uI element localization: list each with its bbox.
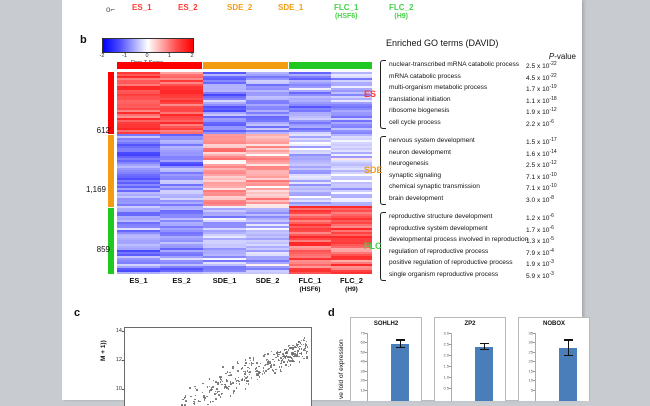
- scatter-point: [224, 384, 226, 386]
- scatter-point: [216, 393, 218, 395]
- scatter-point: [294, 346, 296, 348]
- crop-artifact-mark: o⌐: [106, 5, 115, 14]
- scatter-point: [217, 384, 219, 386]
- go-term-name: regulation of reproductive process: [389, 248, 488, 255]
- go-term-row: synaptic signaling7.1 x 10-10: [386, 171, 580, 183]
- scatter-point: [217, 382, 219, 384]
- top-sample-label-row: o⌐ ES_1ES_2SDE_2SDE_1FLC_1(HSF6)FLC_2(H9…: [62, 0, 582, 30]
- go-term-pvalue: 2.2 x 10-6: [526, 119, 554, 128]
- scatter-point: [256, 362, 258, 364]
- scatter-point: [291, 360, 293, 362]
- go-term-pvalue: 1.7 x 10-19: [526, 84, 557, 93]
- scatter-point: [249, 363, 251, 365]
- scatter-point: [253, 357, 255, 359]
- go-term-name: developmental process involved in reprod…: [389, 236, 528, 243]
- scatter-point: [218, 391, 220, 393]
- scatter-point: [202, 383, 204, 385]
- go-term-row: single organism reproductive process5.9 …: [386, 270, 580, 282]
- go-term-pvalue-exponent: -19: [549, 84, 556, 90]
- go-term-row: neurogenesis2.5 x 10-12: [386, 159, 580, 171]
- go-term-pvalue: 1.7 x 10-6: [526, 225, 554, 234]
- scatter-point: [294, 351, 296, 353]
- bar-chart-axis-line: [451, 333, 452, 401]
- scatter-point: [221, 384, 223, 386]
- scatter-point: [207, 404, 209, 406]
- heatmap-cell: [203, 272, 246, 274]
- scatter-point: [306, 357, 308, 359]
- heatmap-cell: [160, 272, 203, 274]
- scatter-point: [305, 344, 307, 346]
- go-term-name: synaptic signaling: [389, 172, 441, 179]
- go-term-row: mRNA catabolic process4.5 x 10-22: [386, 72, 580, 84]
- scatter-point: [306, 356, 308, 358]
- scatter-points: [125, 328, 311, 406]
- go-term-row: brain development3.0 x 10-8: [386, 194, 580, 206]
- go-terms-block: Enriched GO terms (DAVID) P-value ESnucl…: [380, 38, 580, 281]
- heatmap-x-sublabel: (H9): [327, 285, 376, 294]
- go-term-pvalue: 7.1 x 10-10: [526, 172, 557, 181]
- bar: [391, 344, 409, 401]
- scatter-point: [259, 376, 261, 378]
- scatter-point: [245, 388, 247, 390]
- go-term-name: neuron developmemt: [389, 149, 451, 156]
- scatter-point: [220, 376, 222, 378]
- scatter-point: [293, 356, 295, 358]
- panel-c: c 141210 M + 1)): [62, 305, 322, 400]
- scatter-point: [202, 392, 204, 394]
- scatter-point: [227, 371, 229, 373]
- go-group-label-es: ES: [364, 89, 376, 99]
- scatter-point: [226, 380, 228, 382]
- go-group-sde: SDEnervous system development1.5 x 10-17…: [386, 136, 580, 205]
- scatter-point: [265, 370, 267, 372]
- scatter-point: [278, 354, 280, 356]
- go-term-name: cell cycle process: [389, 119, 441, 126]
- row-count-flc: 859: [76, 245, 110, 254]
- go-term-row: chemical synaptic transmission7.1 x 10-1…: [386, 182, 580, 194]
- scatter-point: [260, 363, 262, 365]
- scatter-point: [221, 393, 223, 395]
- scatter-point: [264, 372, 266, 374]
- bar-chart-title: ZP2: [435, 321, 505, 327]
- scatter-point: [263, 367, 265, 369]
- bar-chart-sohlh2: SOHLH270605040302010: [350, 317, 422, 401]
- scatter-point: [262, 374, 264, 376]
- scatter-point: [230, 383, 232, 385]
- scatter-point: [256, 375, 258, 377]
- color-scale-tick: -2: [100, 53, 105, 59]
- go-term-row: multi-organism metabolic process1.7 x 10…: [386, 83, 580, 95]
- go-term-pvalue-exponent: -22: [549, 61, 556, 67]
- scatter-point: [230, 374, 232, 376]
- scatter-point: [249, 357, 251, 359]
- scatter-point: [217, 391, 219, 393]
- go-term-name: translational initiation: [389, 96, 451, 103]
- scatter-point: [288, 349, 290, 351]
- bar-chart-zp2: ZP23.02.52.01.51.00.5: [434, 317, 506, 401]
- scatter-point: [238, 377, 240, 379]
- bar-chart-nobox: NOBOX3530252015105: [518, 317, 590, 401]
- scatter-point: [189, 387, 191, 389]
- scatter-point: [245, 362, 247, 364]
- go-term-row: cell cycle process2.2 x 10-6: [386, 118, 580, 130]
- color-scale-tick: 0: [145, 53, 148, 59]
- heatmap: [117, 62, 372, 274]
- scatter-point: [277, 356, 279, 358]
- go-term-pvalue-exponent: -5: [549, 236, 553, 242]
- panel-d-letter: d: [328, 307, 335, 319]
- scatter-point: [292, 358, 294, 360]
- heatmap-cell: [331, 272, 372, 274]
- go-term-name: nervous system development: [389, 137, 475, 144]
- scatter-point: [306, 352, 308, 354]
- scatter-point: [307, 346, 309, 348]
- go-term-pvalue: 1.9 x 10-3: [526, 259, 554, 268]
- panel-d: d ve fold of expression SOHLH27060504030…: [324, 305, 582, 400]
- scatter-point: [251, 364, 253, 366]
- scatter-point: [298, 341, 300, 343]
- scatter-point: [253, 359, 255, 361]
- go-term-pvalue-exponent: -10: [549, 172, 556, 178]
- go-term-row: positive regulation of reproductive proc…: [386, 258, 580, 270]
- scatter-point: [229, 372, 231, 374]
- scatter-point: [273, 370, 275, 372]
- go-term-pvalue-exponent: -22: [549, 73, 556, 79]
- bar-chart-y-ticks: 3.02.52.01.51.00.5: [439, 333, 451, 399]
- panel-c-letter: c: [74, 307, 80, 319]
- scatter-point: [241, 379, 243, 381]
- go-term-pvalue: 3.0 x 10-8: [526, 195, 554, 204]
- scatter-point: [285, 364, 287, 366]
- bar: [475, 347, 493, 401]
- scatter-point: [203, 397, 205, 399]
- scatter-point: [244, 379, 246, 381]
- scatter-point: [225, 373, 227, 375]
- scatter-point: [273, 364, 275, 366]
- error-bar-cap: [396, 347, 405, 348]
- go-term-row: developmental process involved in reprod…: [386, 235, 580, 247]
- scatter-point: [297, 350, 299, 352]
- scatter-point: [267, 353, 269, 355]
- bar-chart-title: SOHLH2: [351, 321, 421, 327]
- scatter-point: [228, 386, 230, 388]
- scatter-point: [193, 403, 195, 405]
- top-sample-label-es_1: ES_1: [132, 3, 152, 12]
- heatmap-row-group-bars: [108, 72, 114, 274]
- figure-page: o⌐ ES_1ES_2SDE_2SDE_1FLC_1(HSF6)FLC_2(H9…: [62, 0, 582, 400]
- heatmap-x-labels: ES_1ES_2SDE_1SDE_2FLC_1(HSF6)FLC_2(H9): [117, 276, 372, 300]
- go-term-row: reproductive structure development1.2 x …: [386, 212, 580, 224]
- scatter-point: [281, 366, 283, 368]
- top-sample-label-sde_1: SDE_1: [278, 3, 303, 12]
- row-count-sde: 1,169: [72, 185, 106, 194]
- scatter-point: [280, 363, 282, 365]
- row-group-bar-0: [108, 72, 114, 134]
- scatter-point: [197, 390, 199, 392]
- scatter-point: [199, 401, 201, 403]
- go-group-flc: FLCreproductive structure development1.2…: [386, 212, 580, 281]
- go-term-row: neuron developmemt1.6 x 10-14: [386, 148, 580, 160]
- go-term-pvalue: 5.9 x 10-3: [526, 271, 554, 280]
- panel-c-y-axis-label: M + 1)): [100, 340, 107, 361]
- scatter-point: [286, 353, 288, 355]
- go-term-pvalue-exponent: -6: [549, 119, 553, 125]
- go-group-label-sde: SDE: [364, 165, 383, 175]
- scatter-point: [304, 350, 306, 352]
- bar: [559, 348, 577, 401]
- scatter-point: [272, 359, 274, 361]
- scatter-point: [271, 351, 273, 353]
- scatter-point: [230, 395, 232, 397]
- scatter-point: [251, 378, 253, 380]
- scatter-point: [212, 386, 214, 388]
- go-term-name: reproductive structure development: [389, 213, 492, 220]
- heatmap-cells: [117, 72, 372, 274]
- scatter-point: [185, 400, 187, 402]
- scatter-point: [228, 375, 230, 377]
- scatter-point: [304, 337, 306, 339]
- scatter-point: [236, 387, 238, 389]
- error-bar-cap: [564, 355, 573, 356]
- top-sample-label-es_2: ES_2: [178, 3, 198, 12]
- heatmap-cell: [289, 272, 331, 274]
- scatter-point: [301, 348, 303, 350]
- color-scale-bar: [102, 38, 194, 53]
- scatter-point: [238, 381, 240, 383]
- scatter-point: [210, 401, 212, 403]
- top-sample-label-sde_2: SDE_2: [227, 3, 252, 12]
- scatter-point: [244, 373, 246, 375]
- scatter-point: [288, 366, 290, 368]
- scatter-point: [263, 370, 265, 372]
- go-term-pvalue: 7.9 x 10-4: [526, 248, 554, 257]
- go-term-pvalue-exponent: -3: [549, 259, 553, 265]
- scatter-point: [288, 359, 290, 361]
- scatter-point: [275, 357, 277, 359]
- go-term-row: nervous system development1.5 x 10-17: [386, 136, 580, 148]
- scatter-point: [236, 383, 238, 385]
- go-term-name: chemical synaptic transmission: [389, 183, 480, 190]
- go-term-pvalue-exponent: -6: [549, 213, 553, 219]
- go-term-name: ribosome biogenesis: [389, 107, 449, 114]
- heatmap-row: [117, 272, 372, 274]
- scatter-point: [257, 379, 259, 381]
- scatter-point: [301, 344, 303, 346]
- scatter-point: [249, 374, 251, 376]
- scatter-point: [250, 360, 252, 362]
- panel-c-y-axis: 141210: [110, 327, 124, 405]
- scatter-point: [273, 354, 275, 356]
- scatter-point: [243, 371, 245, 373]
- panel-b: b -2-1012 Row Z-Score 612 1,169 859 ES_1…: [62, 30, 582, 305]
- scatter-point: [263, 355, 265, 357]
- go-term-name: multi-organism metabolic process: [389, 84, 487, 91]
- scatter-point: [245, 359, 247, 361]
- go-term-row: ribosome biogenesis1.9 x 10-12: [386, 106, 580, 118]
- scatter-point: [215, 398, 217, 400]
- go-term-pvalue: 1.3 x 10-5: [526, 236, 554, 245]
- bar-chart-title: NOBOX: [519, 321, 589, 327]
- scatter-point: [299, 361, 301, 363]
- scatter-point: [280, 369, 282, 371]
- scatter-point: [249, 368, 251, 370]
- color-scale-tick: 2: [190, 53, 193, 59]
- go-term-row: regulation of reproductive process7.9 x …: [386, 247, 580, 259]
- top-sample-sublabel: (HSF6): [334, 12, 358, 21]
- go-term-pvalue-exponent: -17: [549, 137, 556, 143]
- scatter-point: [258, 366, 260, 368]
- go-term-pvalue-exponent: -18: [549, 96, 556, 102]
- scatter-point: [214, 393, 216, 395]
- scatter-point: [247, 376, 249, 378]
- scatter-point: [235, 378, 237, 380]
- scatter-point: [292, 349, 294, 351]
- go-term-pvalue: 1.2 x 10-6: [526, 213, 554, 222]
- scatter-point: [279, 360, 281, 362]
- heatmap-cell: [117, 272, 160, 274]
- scatter-point: [237, 363, 239, 365]
- scatter-point: [249, 371, 251, 373]
- row-count-es: 612: [76, 126, 110, 135]
- scatter-point: [277, 351, 279, 353]
- panel-b-letter: b: [80, 34, 87, 46]
- scatter-point: [226, 387, 228, 389]
- scatter-point: [209, 378, 211, 380]
- go-term-row: nuclear-transcribed mRNA catabolic proce…: [386, 60, 580, 72]
- scatter-point: [237, 370, 239, 372]
- scatter-point: [306, 341, 308, 343]
- scatter-point: [279, 352, 281, 354]
- scatter-point: [209, 391, 211, 393]
- scatter-point: [239, 383, 241, 385]
- scatter-point: [282, 359, 284, 361]
- scatter-point: [245, 371, 247, 373]
- heatmap-x-label-flc_2: FLC_2(H9): [327, 276, 376, 294]
- go-term-name: single organism reproductive process: [389, 271, 498, 278]
- scatter-point: [290, 364, 292, 366]
- column-group-sde: [203, 62, 288, 69]
- scatter-point: [280, 371, 282, 373]
- go-term-pvalue: 2.5 x 10-12: [526, 160, 557, 169]
- scatter-point: [224, 388, 226, 390]
- scatter-point: [194, 386, 196, 388]
- error-bar-cap: [480, 349, 489, 350]
- go-group-es: ESnuclear-transcribed mRNA catabolic pro…: [386, 60, 580, 129]
- heatmap-column-group-bar: [117, 62, 372, 69]
- go-term-name: brain development: [389, 195, 443, 202]
- go-term-pvalue: 2.5 x 10-22: [526, 61, 557, 70]
- scatter-point: [289, 356, 291, 358]
- scatter-point: [190, 396, 192, 398]
- scatter-point: [211, 389, 213, 391]
- go-term-pvalue-exponent: -12: [549, 107, 556, 113]
- top-sample-label-flc_1: FLC_1(HSF6): [334, 3, 358, 21]
- error-bar-cap: [396, 339, 405, 340]
- scatter-point: [274, 372, 276, 374]
- error-bar-cap: [564, 339, 573, 340]
- go-term-pvalue-exponent: -12: [549, 160, 556, 166]
- panel-d-y-axis-label: ve fold of expression: [338, 339, 345, 399]
- row-group-bar-1: [108, 135, 114, 207]
- scatter-point: [207, 386, 209, 388]
- bar-chart-axis-line: [535, 333, 536, 401]
- scatter-point: [275, 369, 277, 371]
- scatter-point: [184, 404, 186, 406]
- go-term-pvalue: 1.6 x 10-14: [526, 149, 557, 158]
- go-term-pvalue: 1.9 x 10-12: [526, 107, 557, 116]
- bar-chart-y-ticks: 3530252015105: [523, 333, 535, 399]
- scatter-point: [209, 386, 211, 388]
- go-term-name: positive regulation of reproductive proc…: [389, 259, 513, 266]
- scatter-point: [287, 361, 289, 363]
- go-term-pvalue: 4.5 x 10-22: [526, 73, 557, 82]
- go-group-label-flc: FLC: [364, 241, 382, 251]
- scatter-point: [267, 363, 269, 365]
- scatter-point: [255, 368, 257, 370]
- bar-chart-y-ticks: 70605040302010: [355, 333, 367, 399]
- scatter-point: [293, 361, 295, 363]
- panel-c-plot-area: [124, 327, 312, 406]
- scatter-point: [206, 396, 208, 398]
- go-term-name: reproductive system development: [389, 225, 488, 232]
- go-term-pvalue-exponent: -4: [549, 248, 553, 254]
- go-term-name: mRNA catabolic process: [389, 73, 461, 80]
- scatter-point: [299, 356, 301, 358]
- scatter-point: [228, 388, 230, 390]
- scatter-point: [215, 391, 217, 393]
- scatter-point: [212, 401, 214, 403]
- top-sample-label-flc_2: FLC_2(H9): [389, 3, 413, 21]
- row-group-bar-2: [108, 208, 114, 274]
- go-term-row: translational initiation1.1 x 10-18: [386, 95, 580, 107]
- go-term-pvalue-exponent: -10: [549, 183, 556, 189]
- scatter-point: [301, 340, 303, 342]
- column-group-flc: [289, 62, 372, 69]
- scatter-point: [185, 395, 187, 397]
- scatter-point: [222, 381, 224, 383]
- scatter-point: [269, 362, 271, 364]
- go-term-pvalue-exponent: -3: [549, 271, 553, 277]
- scatter-point: [232, 367, 234, 369]
- color-scale-tick: -1: [122, 53, 127, 59]
- go-term-name: neurogenesis: [389, 160, 429, 167]
- scatter-point: [247, 367, 249, 369]
- scatter-point: [267, 369, 269, 371]
- scatter-point: [270, 366, 272, 368]
- scatter-point: [195, 395, 197, 397]
- scatter-point: [242, 367, 244, 369]
- color-scale-tick: 1: [168, 53, 171, 59]
- scatter-point: [232, 382, 234, 384]
- go-term-pvalue-exponent: -6: [549, 225, 553, 231]
- scatter-point: [301, 353, 303, 355]
- scatter-point: [220, 381, 222, 383]
- scatter-point: [248, 380, 250, 382]
- scatter-point: [244, 365, 246, 367]
- scatter-point: [252, 363, 254, 365]
- scatter-point: [303, 358, 305, 360]
- scatter-point: [248, 383, 250, 385]
- heatmap-cell: [246, 272, 289, 274]
- go-term-name: nuclear-transcribed mRNA catabolic proce…: [389, 61, 519, 68]
- scatter-point: [296, 344, 298, 346]
- color-scale-ticks: -2-1012: [102, 53, 192, 61]
- go-term-pvalue: 1.1 x 10-18: [526, 96, 557, 105]
- go-term-pvalue-exponent: -8: [549, 195, 553, 201]
- top-sample-sublabel: (H9): [389, 12, 413, 21]
- error-bar: [568, 341, 569, 356]
- go-term-pvalue-exponent: -14: [549, 149, 556, 155]
